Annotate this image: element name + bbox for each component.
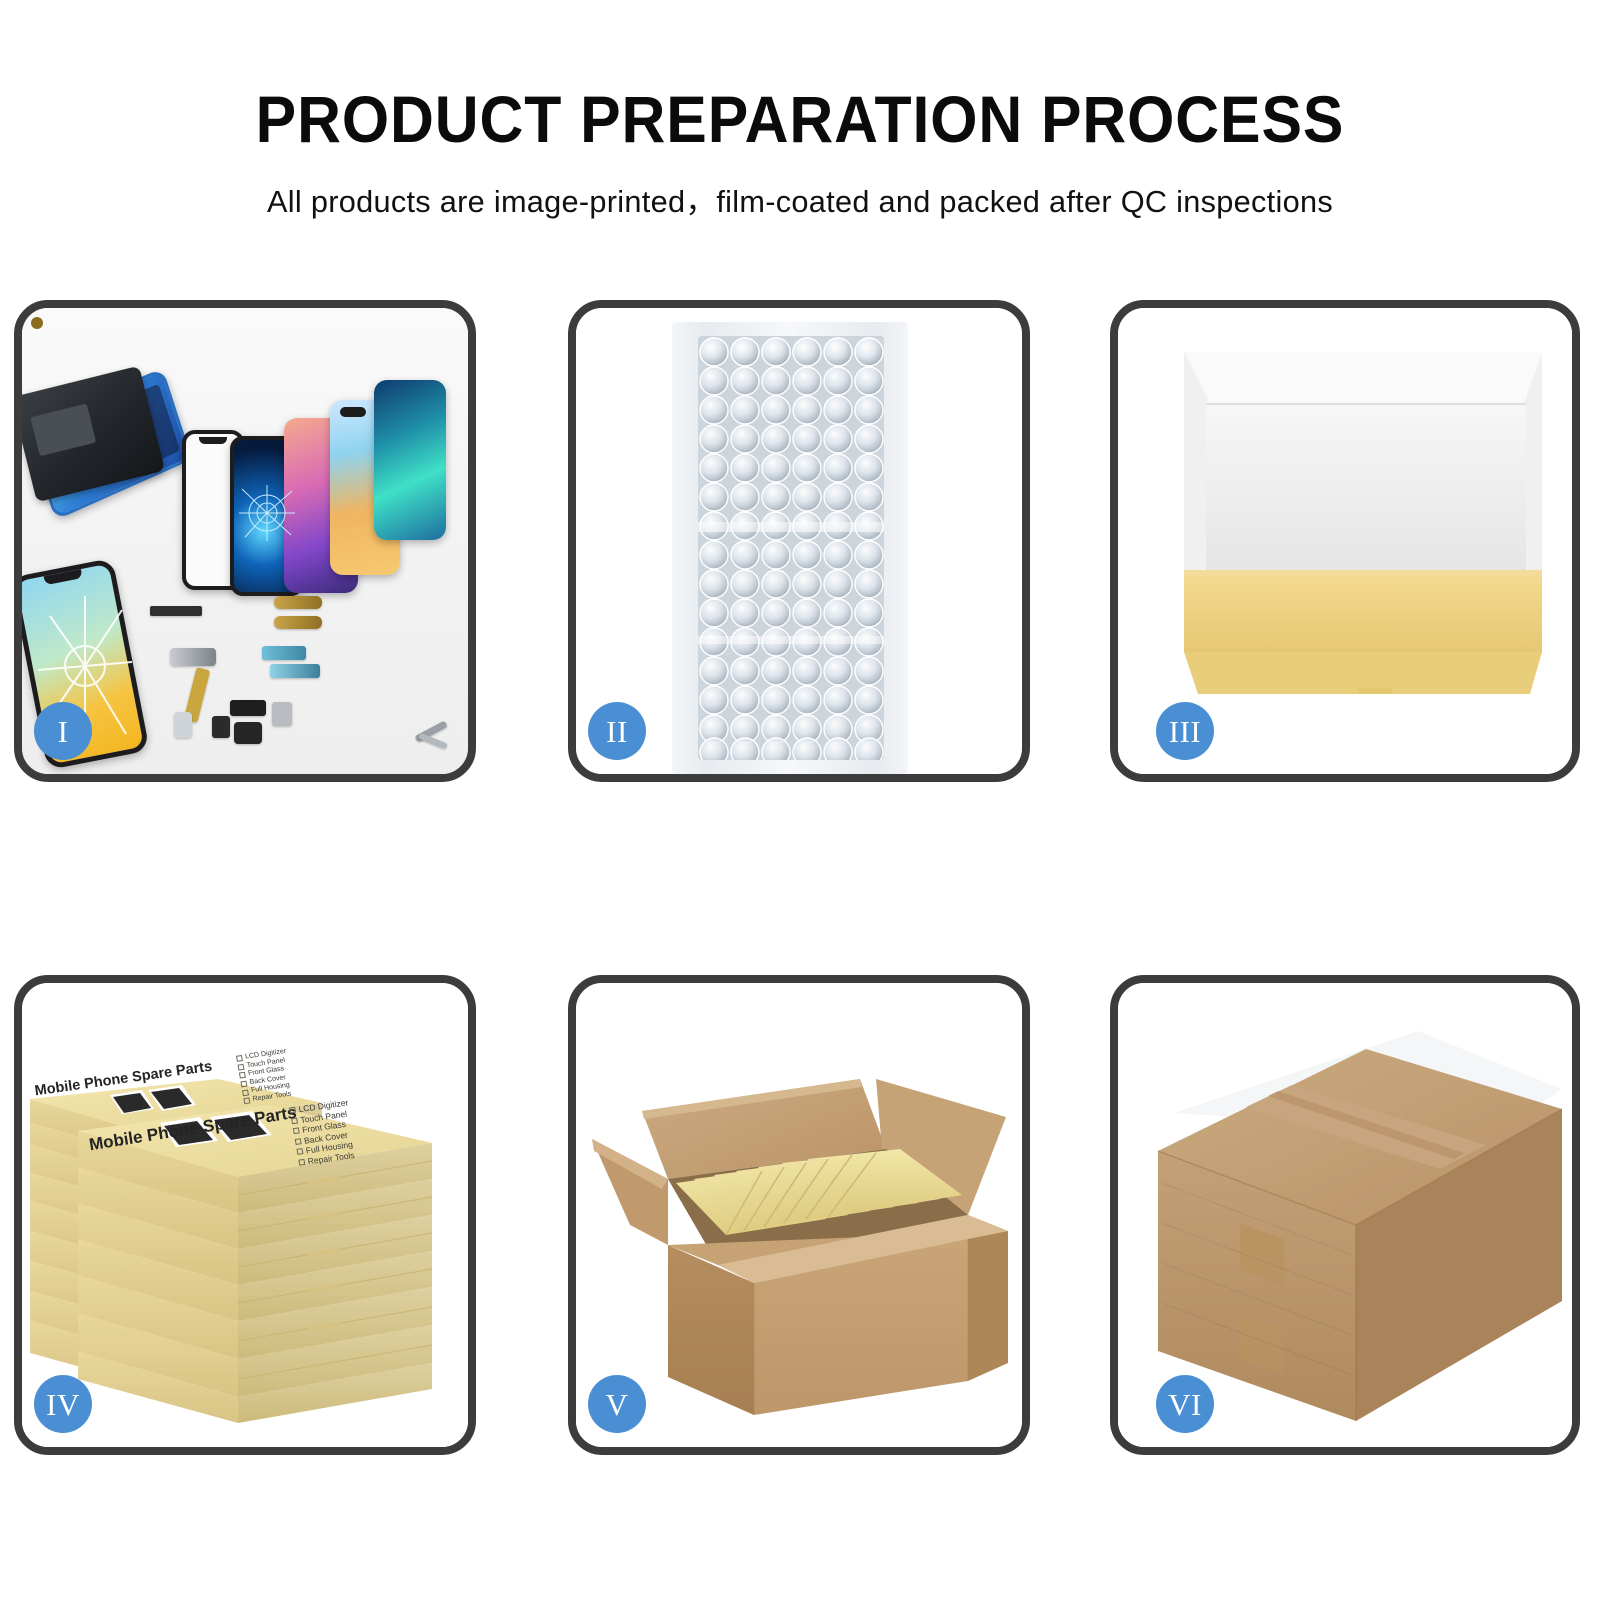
cracked-glass-icon bbox=[237, 483, 297, 543]
step-badge-4: IV bbox=[34, 1375, 92, 1433]
checkbox-icon bbox=[236, 1055, 243, 1062]
earpiece-speaker-part bbox=[150, 606, 202, 616]
checkbox-icon bbox=[240, 1081, 247, 1088]
box-checklist-back: LCD Digitizer Touch Panel Front Glass Ba… bbox=[236, 1048, 295, 1106]
checkbox-icon bbox=[289, 1107, 296, 1114]
checkbox-icon bbox=[298, 1159, 305, 1166]
checkbox-icon bbox=[296, 1148, 303, 1155]
sim-tray-part bbox=[174, 712, 192, 738]
checkbox-icon bbox=[242, 1089, 249, 1096]
step-4-image: Mobile Phone Spare Parts Mobile Phone Sp… bbox=[22, 983, 468, 1447]
step-badge-6: VI bbox=[1156, 1375, 1214, 1433]
connector-part bbox=[170, 648, 216, 666]
checkbox-icon bbox=[291, 1117, 298, 1124]
step-panel-4[interactable]: Mobile Phone Spare Parts Mobile Phone Sp… bbox=[14, 975, 476, 1455]
small-ic-part bbox=[212, 716, 230, 738]
step-panel-2[interactable]: II bbox=[568, 300, 1030, 782]
step-badge-1: I bbox=[34, 702, 92, 760]
checkbox-icon bbox=[239, 1072, 246, 1079]
step-panel-3[interactable]: III bbox=[1110, 300, 1580, 782]
step-panel-6[interactable]: VI bbox=[1110, 975, 1580, 1455]
checkbox-icon bbox=[293, 1128, 300, 1135]
lcd-screen-teal bbox=[374, 380, 446, 540]
step-1-image bbox=[22, 308, 468, 774]
product-preparation-infographic: PRODUCT PREPARATION PROCESS All products… bbox=[0, 0, 1600, 1600]
loudspeaker-part bbox=[234, 722, 262, 744]
step-badge-3: III bbox=[1156, 702, 1214, 760]
checkbox-icon bbox=[237, 1064, 244, 1071]
step-2-image bbox=[576, 308, 1022, 774]
bubble-wrap-sleeve bbox=[698, 336, 884, 760]
camera-module-part bbox=[230, 700, 266, 716]
checkbox-icon bbox=[243, 1098, 250, 1105]
flex-cable-part-b bbox=[274, 616, 322, 629]
antenna-flex-part bbox=[262, 646, 306, 660]
page-title: PRODUCT PREPARATION PROCESS bbox=[64, 86, 1536, 152]
bubble-wrap-pattern-icon bbox=[698, 336, 884, 760]
volume-button-flex-part bbox=[270, 664, 320, 678]
open-shipping-carton-illustration bbox=[576, 983, 1022, 1447]
box-checklist-front: LCD Digitizer Touch Panel Front Glass Ba… bbox=[289, 1097, 358, 1167]
header: PRODUCT PREPARATION PROCESS All products… bbox=[0, 0, 1600, 217]
checkbox-icon bbox=[295, 1138, 302, 1145]
step-badge-2: II bbox=[588, 702, 646, 760]
vibrator-motor-part bbox=[272, 702, 292, 726]
step-badge-5: V bbox=[588, 1375, 646, 1433]
flex-cable-part-a bbox=[274, 596, 322, 609]
page-subtitle: All products are image-printed，film-coat… bbox=[8, 186, 1592, 217]
step-panel-1[interactable]: I bbox=[14, 300, 476, 782]
step-5-image bbox=[576, 983, 1022, 1447]
step-panel-5[interactable]: V bbox=[568, 975, 1030, 1455]
